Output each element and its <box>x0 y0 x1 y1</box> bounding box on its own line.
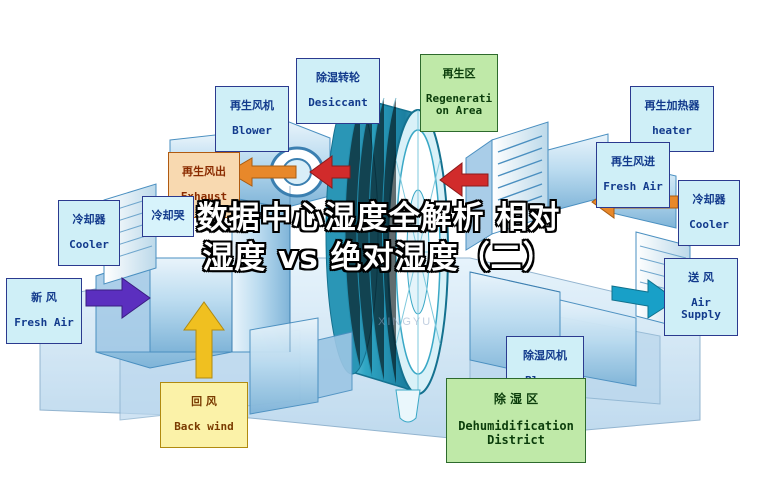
label-regeneration-area: 再生区 Regenerati on Area <box>420 54 498 132</box>
label-fresh-air-cn: 新 风 <box>10 292 78 304</box>
diagram-canvas: XINGYU 除湿转轮 Desiccant 再生风机 Blower 再生区 Re… <box>0 0 757 488</box>
label-regeneration-blower: 再生风机 Blower <box>215 86 289 152</box>
label-cold-water-cn: 冷却哭 <box>146 210 190 222</box>
label-regeneration-blower-cn: 再生风机 <box>219 100 285 112</box>
label-cold-water: 冷却哭 <box>142 196 194 237</box>
label-regeneration-inlet-cn: 再生风进 <box>600 156 666 168</box>
label-dehumidify-district-en: Dehumidification District <box>450 420 582 447</box>
label-regeneration-inlet-en: Fresh Air <box>600 181 666 193</box>
label-regeneration-area-en: Regenerati on Area <box>424 93 494 118</box>
label-regeneration-exhaust-cn: 再生风出 <box>172 166 236 178</box>
label-cooler-right: 冷却器 Cooler <box>678 180 740 246</box>
label-return-air: 回 风 Back wind <box>160 382 248 448</box>
label-supply-air: 送 风 Air Supply <box>664 258 738 336</box>
label-fresh-air-en: Fresh Air <box>10 317 78 329</box>
label-desiccant-wheel-en: Desiccant <box>300 97 376 109</box>
watermark: XINGYU <box>378 316 432 328</box>
label-cooler-left-cn: 冷却器 <box>62 214 116 226</box>
label-regeneration-heater-en: heater <box>634 125 710 137</box>
label-dehumidify-district: 除 湿 区 Dehumidification District <box>446 378 586 463</box>
label-regeneration-heater-cn: 再生加热器 <box>634 100 710 112</box>
label-return-air-cn: 回 风 <box>164 396 244 408</box>
label-cooler-left: 冷却器 Cooler <box>58 200 120 266</box>
label-return-air-en: Back wind <box>164 421 244 433</box>
label-dehumidify-blower-cn: 除湿风机 <box>510 350 580 362</box>
label-cooler-right-en: Cooler <box>682 219 736 231</box>
label-regeneration-area-cn: 再生区 <box>424 68 494 80</box>
label-regeneration-inlet: 再生风进 Fresh Air <box>596 142 670 208</box>
label-supply-air-cn: 送 风 <box>668 272 734 284</box>
label-regeneration-blower-en: Blower <box>219 125 285 137</box>
label-desiccant-wheel-cn: 除湿转轮 <box>300 72 376 84</box>
label-cooler-right-cn: 冷却器 <box>682 194 736 206</box>
label-desiccant-wheel: 除湿转轮 Desiccant <box>296 58 380 124</box>
label-supply-air-en: Air Supply <box>668 297 734 322</box>
label-dehumidify-district-cn: 除 湿 区 <box>450 393 582 406</box>
label-fresh-air: 新 风 Fresh Air <box>6 278 82 344</box>
label-cooler-left-en: Cooler <box>62 239 116 251</box>
